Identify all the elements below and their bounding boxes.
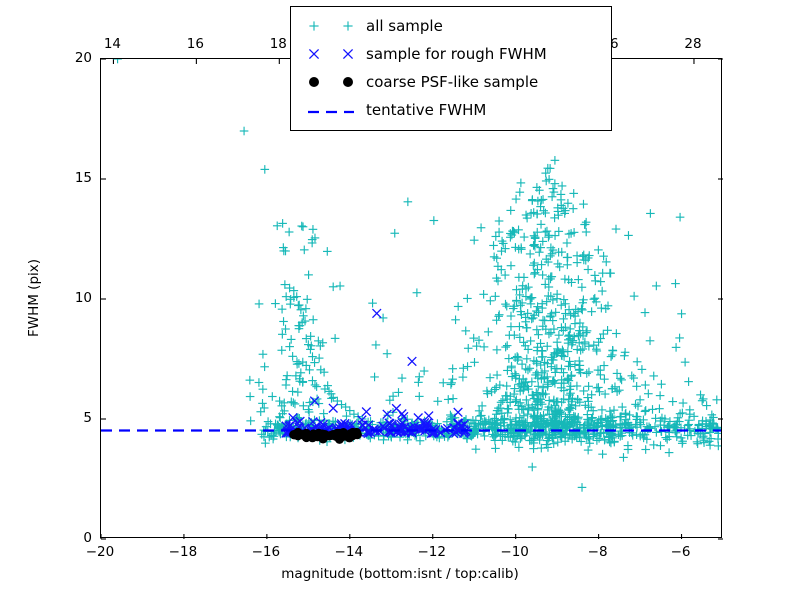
y-tick-label: 20 bbox=[75, 50, 92, 66]
x-axis-label: magnitude (bottom:isnt / top:calib) bbox=[0, 566, 800, 582]
legend-label: all sample bbox=[362, 17, 443, 35]
x-tick-label-top: 14 bbox=[104, 36, 121, 52]
legend-marker-dashed-line-icon bbox=[300, 96, 362, 124]
legend-label: sample for rough FWHM bbox=[362, 45, 547, 63]
x-tick-label-top: 18 bbox=[270, 36, 287, 52]
legend-marker-plus-icon bbox=[300, 12, 362, 40]
x-tick-label-bottom: −6 bbox=[671, 544, 691, 560]
x-tick-label-bottom: −8 bbox=[588, 544, 608, 560]
x-tick-label-top: 28 bbox=[684, 36, 701, 52]
legend-row-3[interactable]: tentative FWHM bbox=[300, 96, 602, 124]
series-coarse-psf bbox=[289, 428, 362, 444]
legend-label: coarse PSF-like sample bbox=[362, 73, 538, 91]
figure-canvas: FWHM vs magnitudes magnitude (bottom:isn… bbox=[0, 0, 800, 600]
y-tick-label: 10 bbox=[75, 290, 92, 306]
y-tick-label: 5 bbox=[83, 410, 92, 426]
y-axis-label: FWHM (pix) bbox=[26, 58, 42, 538]
x-tick-label-bottom: −20 bbox=[86, 544, 115, 560]
x-tick-label-bottom: −14 bbox=[335, 544, 364, 560]
x-tick-label-bottom: −10 bbox=[500, 544, 529, 560]
y-tick-label: 0 bbox=[83, 530, 92, 546]
legend-row-1[interactable]: sample for rough FWHM bbox=[300, 40, 602, 68]
legend-marker-cross-icon bbox=[300, 40, 362, 68]
x-tick-label-bottom: −18 bbox=[169, 544, 198, 560]
x-tick-label-bottom: −12 bbox=[417, 544, 446, 560]
x-tick-label-bottom: −16 bbox=[252, 544, 281, 560]
y-tick-label: 15 bbox=[75, 170, 92, 186]
legend-row-0[interactable]: all sample bbox=[300, 12, 602, 40]
legend-marker-circle-icon bbox=[300, 68, 362, 96]
legend-box[interactable]: all samplesample for rough FWHMcoarse PS… bbox=[290, 6, 612, 131]
legend-row-2[interactable]: coarse PSF-like sample bbox=[300, 68, 602, 96]
x-tick-label-top: 16 bbox=[187, 36, 204, 52]
legend-label: tentative FWHM bbox=[362, 101, 486, 119]
